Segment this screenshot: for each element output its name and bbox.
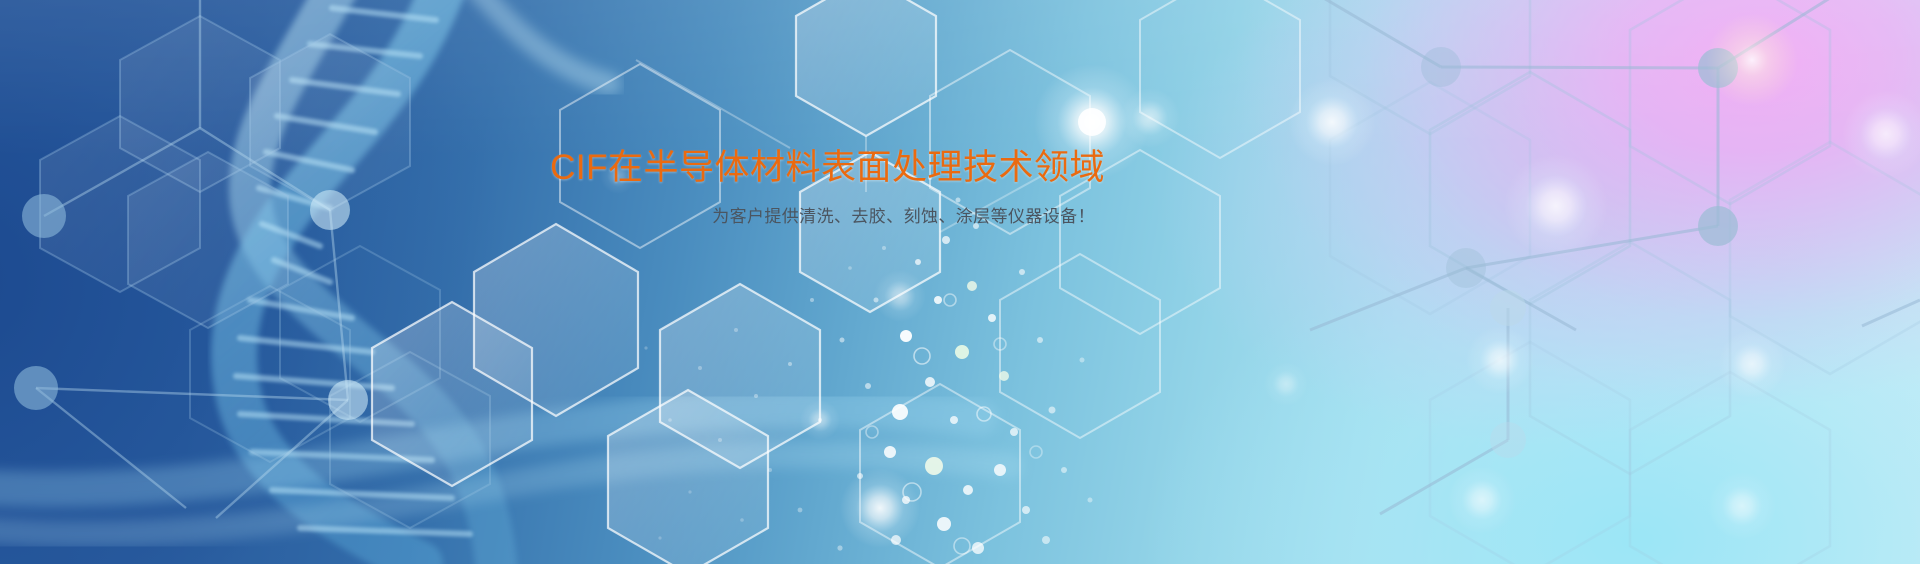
hero-banner: CIF在半导体材料表面处理技术领域 为客户提供清洗、去胶、刻蚀、涂层等仪器设备！ [0, 0, 1920, 564]
particle-burst-graphic [0, 0, 1920, 564]
page-subtitle: 为客户提供清洗、去胶、刻蚀、涂层等仪器设备！ [0, 204, 1105, 230]
page-title: CIF在半导体材料表面处理技术领域 [0, 146, 1105, 190]
hero-text-block: CIF在半导体材料表面处理技术领域 为客户提供清洗、去胶、刻蚀、涂层等仪器设备！ [0, 146, 1105, 230]
